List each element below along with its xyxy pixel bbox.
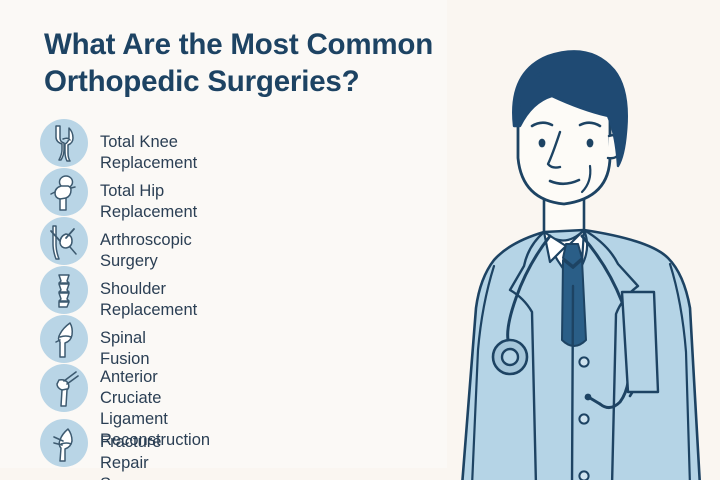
- doctor-illustration: [432, 40, 720, 480]
- hip-joint-icon: [40, 168, 88, 216]
- list-item-label: Total Hip Replacement: [100, 181, 197, 223]
- fracture-bone-icon: [40, 419, 88, 467]
- list-item-label: Fracture Repair Surgery: [100, 432, 161, 480]
- knee-joint-icon: [40, 119, 88, 167]
- vertebrae-icon: [40, 266, 88, 314]
- list-item-label: Total Knee Replacement: [100, 132, 197, 174]
- infographic-canvas: What Are the Most Common Orthopedic Surg…: [0, 0, 720, 480]
- list-item-label: Arthroscopic Surgery: [100, 230, 192, 272]
- spine-joint-icon: [40, 315, 88, 363]
- arthroscope-icon: [40, 217, 88, 265]
- list-item-label: Shoulder Replacement: [100, 279, 197, 321]
- acl-ligament-icon: [40, 364, 88, 412]
- list-item-label: Spinal Fusion: [100, 328, 150, 370]
